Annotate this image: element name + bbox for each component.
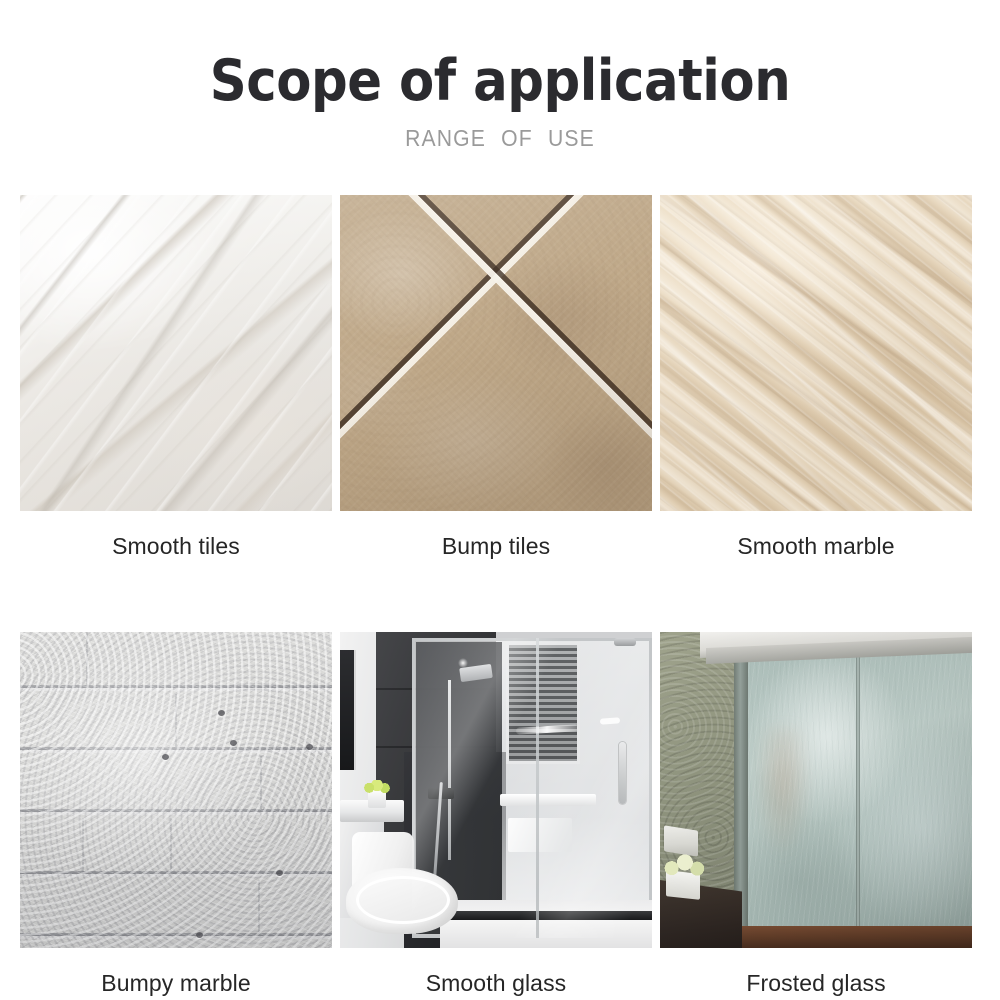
shower-pipe bbox=[448, 680, 451, 860]
wood-floor bbox=[720, 926, 972, 948]
page-subtitle: RANGE OF USE bbox=[40, 112, 960, 152]
surface-gallery: Smooth tiles Bump tiles Smooth marble bbox=[20, 195, 972, 997]
stone-pit bbox=[276, 870, 283, 876]
bathroom-floor bbox=[440, 900, 652, 948]
folded-towel bbox=[508, 818, 572, 852]
ceiling-light-reflection bbox=[458, 658, 468, 668]
smooth-glass-image[interactable] bbox=[340, 632, 652, 948]
gallery-item-label: Frosted glass bbox=[660, 948, 972, 997]
gallery-row: Bumpy marble bbox=[20, 632, 972, 997]
header: Scope of application RANGE OF USE bbox=[0, 0, 1000, 152]
gallery-item-label: Smooth marble bbox=[660, 511, 972, 560]
stone-pit bbox=[162, 754, 169, 760]
shower-door-top-bracket bbox=[614, 638, 636, 646]
plant-leaves bbox=[364, 780, 390, 793]
glass-door-seam bbox=[536, 638, 539, 938]
toilet-seat bbox=[356, 876, 450, 924]
bathroom-mirror bbox=[340, 650, 356, 770]
frosted-glass-image[interactable] bbox=[660, 632, 972, 948]
gallery-item-bump-tiles[interactable]: Bump tiles bbox=[340, 195, 652, 560]
smooth-marble-image[interactable] bbox=[660, 195, 972, 511]
gallery-item-label: Bumpy marble bbox=[20, 948, 332, 997]
bump-tiles-image[interactable] bbox=[340, 195, 652, 511]
tile-shading-layer bbox=[340, 195, 652, 511]
gallery-item-smooth-tiles[interactable]: Smooth tiles bbox=[20, 195, 332, 560]
gallery-item-smooth-glass[interactable]: Smooth glass bbox=[340, 632, 652, 997]
stone-pit bbox=[218, 710, 225, 716]
scope-of-application-page: Scope of application RANGE OF USE Smooth… bbox=[0, 0, 1000, 1000]
stone-pit bbox=[230, 740, 237, 746]
gallery-item-label: Bump tiles bbox=[340, 511, 652, 560]
shower-door-track bbox=[446, 911, 652, 920]
stone-pit bbox=[306, 744, 313, 750]
smooth-tiles-image[interactable] bbox=[20, 195, 332, 511]
page-title: Scope of application bbox=[50, 0, 950, 112]
gallery-item-label: Smooth glass bbox=[340, 948, 652, 997]
shower-ledge bbox=[500, 794, 596, 806]
gallery-row: Smooth tiles Bump tiles Smooth marble bbox=[20, 195, 972, 560]
door-panel-seam bbox=[856, 646, 860, 948]
shower-window-blind bbox=[506, 642, 580, 764]
stone-shading-layer bbox=[20, 632, 332, 948]
gallery-item-bumpy-marble[interactable]: Bumpy marble bbox=[20, 632, 332, 997]
gallery-item-label: Smooth tiles bbox=[20, 511, 332, 560]
bumpy-marble-image[interactable] bbox=[20, 632, 332, 948]
flowers bbox=[662, 852, 706, 878]
gallery-item-smooth-marble[interactable]: Smooth marble bbox=[660, 195, 972, 560]
bathroom-scene bbox=[340, 632, 652, 948]
stone-pit bbox=[196, 932, 203, 938]
gallery-item-frosted-glass[interactable]: Frosted glass bbox=[660, 632, 972, 997]
shower-door-handle bbox=[619, 742, 626, 804]
